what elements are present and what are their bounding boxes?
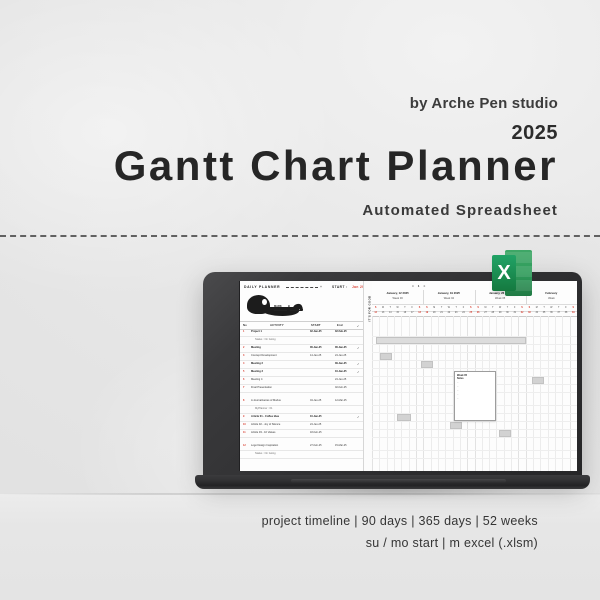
footer-block: project timeline | 90 days | 365 days | … [262, 510, 538, 554]
row-end: 02-Feb-25 [335, 330, 347, 333]
day-number-cell: 36 [548, 310, 555, 316]
row-end: 15-Mar-25 [335, 444, 347, 447]
row-activity: Status : On Going [255, 338, 276, 341]
gantt-bar[interactable] [450, 422, 462, 429]
week-number-label: Week 04 [423, 297, 474, 300]
grid-line-vertical [372, 316, 373, 471]
day-number-cell: 38 [562, 310, 569, 316]
gantt-bar[interactable] [376, 337, 526, 344]
row-start: 02-Jan-25 [310, 330, 322, 333]
week-divider [423, 290, 424, 304]
popup-item: - [458, 386, 459, 388]
grid-line-vertical [562, 316, 563, 471]
table-row[interactable]: Status : On Going [240, 450, 363, 459]
col-activity: ACTIVITY [270, 324, 284, 327]
popup-item: - [458, 398, 459, 400]
row-start: 27-Feb-25 [310, 444, 322, 447]
col-no: No [243, 324, 247, 327]
grid-line-vertical [570, 316, 571, 471]
day-number-cell: 35 [540, 310, 547, 316]
doodle-label-2: B [288, 305, 290, 308]
row-end: 16-Jan-25 [335, 370, 347, 373]
row-number: 12 [243, 444, 246, 447]
day-number-cell: 13 [379, 310, 386, 316]
plus-icon[interactable]: + [320, 285, 322, 289]
week-month-label: January, 12 2025 [372, 291, 423, 295]
day-number-cell: 16 [401, 310, 408, 316]
day-number-cell: 17 [409, 310, 416, 316]
row-number: 1 [243, 330, 244, 333]
row-activity: Status : On Going [255, 452, 276, 455]
day-number-cell: 24 [460, 310, 467, 316]
day-number-cell: 20 [431, 310, 438, 316]
header-block: by Arche Pen studio 2025 [410, 96, 558, 143]
day-number-cell: 31 [511, 310, 518, 316]
day-number-cell: 28 [489, 310, 496, 316]
gantt-nav[interactable]: < 1 > [412, 284, 427, 288]
week-divider [475, 290, 476, 304]
day-number-cell: 32 [518, 310, 525, 316]
row-activity: Meeting 3 [251, 370, 263, 373]
grid-line-vertical [555, 316, 556, 471]
row-activity: Meeting [251, 346, 261, 349]
col-start: START [311, 324, 321, 327]
sheet-title-dashes [286, 287, 318, 288]
gantt-chart: < 1 > January, 12 2025Week 03January, 19… [372, 281, 577, 471]
day-number-cell: 26 [475, 310, 482, 316]
poster-canvas: by Arche Pen studio 2025 Gantt Chart Pla… [0, 0, 600, 600]
row-start: 18-Feb-25 [310, 431, 322, 434]
row-activity: Article 01 - Coffee Idea [251, 415, 279, 418]
row-end: 24-Jan-25 [335, 354, 346, 357]
row-number: 6 [243, 378, 244, 381]
row-end: 06-Jan-25 [335, 346, 347, 349]
grid-line-vertical [526, 316, 527, 471]
gantt-bar[interactable] [380, 353, 392, 360]
row-end: 02-Feb-25 [335, 386, 347, 389]
row-activity: Article 02 - Joy of Silence [251, 423, 280, 426]
day-number-cell: 19 [423, 310, 430, 316]
row-activity: Concept Development [251, 354, 277, 357]
row-number: 9 [243, 415, 244, 418]
row-start: 24-Jan-25 [310, 423, 321, 426]
day-number-cell: 15 [394, 310, 401, 316]
footer-line-2: su / mo start | m excel (.xlsm) [262, 532, 538, 554]
day-number-cell: 18 [416, 310, 423, 316]
col-check: ✓ [357, 324, 359, 328]
laptop-mockup: DAILY PLANNER + START : Jan 2025 [195, 272, 590, 487]
row-number: 11 [243, 431, 246, 434]
row-start: 14-Jan-25 [310, 354, 321, 357]
row-number: 7 [243, 386, 244, 389]
laptop-screen: DAILY PLANNER + START : Jan 2025 [239, 281, 577, 471]
day-number-cell: 30 [504, 310, 511, 316]
grid-line-horizontal [372, 437, 577, 438]
gantt-bar[interactable] [532, 377, 544, 384]
row-activity: Article 03 - 10 Values [251, 431, 275, 434]
day-number-cell: 37 [555, 310, 562, 316]
row-check[interactable]: ✓ [357, 362, 360, 366]
excel-icon[interactable]: X [492, 250, 532, 296]
row-activity: Meeting 4 [251, 378, 262, 381]
day-number-cell: 23 [453, 310, 460, 316]
start-label: START : [332, 285, 348, 289]
row-number: 10 [243, 423, 246, 426]
grid-line-horizontal [372, 450, 577, 451]
row-number: 3 [243, 354, 244, 357]
row-number: 5 [243, 370, 244, 373]
grid-line-horizontal [372, 429, 577, 430]
day-number-cell: 21 [438, 310, 445, 316]
col-end: End [337, 324, 343, 327]
grid-line-horizontal [372, 368, 577, 369]
whale-doodle-icon: MARK B [247, 295, 299, 317]
table-row[interactable]: 11Article 03 - 10 Values18-Feb-25 [240, 429, 363, 438]
footer-line-1: project timeline | 90 days | 365 days | … [262, 510, 538, 532]
popup-item: - [458, 382, 459, 384]
year-label: 2025 [410, 123, 558, 143]
row-start: 10-Jan-25 [310, 415, 322, 418]
popup-subheader: Notes [457, 377, 464, 380]
week-month-label: January, 19 2025 [423, 291, 474, 295]
day-number-cell: 12 [372, 310, 379, 316]
day-number-cell: 25 [467, 310, 474, 316]
day-number-cell: 22 [445, 310, 452, 316]
row-activity: MyPlanner : 01 [255, 407, 272, 410]
row-activity: Project 1 [251, 330, 262, 333]
row-check[interactable]: ✓ [357, 370, 360, 374]
row-activity: Final Presentation [251, 386, 272, 389]
row-activity: A Journal/series of Modus [251, 399, 281, 402]
row-activity: Meeting 2 [251, 362, 263, 365]
row-start: 06-Jan-25 [310, 346, 322, 349]
row-check[interactable]: ✓ [357, 415, 360, 419]
grid-line-horizontal [372, 360, 577, 361]
note-popup[interactable]: Week 05Notes----- [454, 371, 496, 421]
sheet-title: DAILY PLANNER [244, 285, 280, 289]
doodle-label-1: MARK [274, 305, 282, 308]
spreadsheet: DAILY PLANNER + START : Jan 2025 [240, 281, 577, 471]
week-number-label: Week 03 [372, 297, 423, 300]
page-subtitle: Automated Spreadsheet [362, 203, 558, 218]
row-number: 8 [243, 399, 244, 402]
popup-item: - [458, 394, 459, 396]
row-number: 4 [243, 362, 244, 365]
week-month-label: February [526, 291, 577, 295]
row-end: 09-Jan-25 [335, 362, 347, 365]
row-number: 2 [243, 346, 244, 349]
laptop-base-lip [291, 479, 506, 483]
row-end: 24-Jan-25 [335, 378, 346, 381]
row-end: 12-Mar-25 [335, 399, 347, 402]
laptop-lid: DAILY PLANNER + START : Jan 2025 [203, 272, 582, 480]
dashed-divider [0, 235, 600, 237]
grid-line-vertical [533, 316, 534, 471]
day-number-cell: 14 [387, 310, 394, 316]
week-number-label: Week 05 [475, 297, 526, 300]
gantt-bar[interactable] [499, 430, 511, 437]
grid-line-horizontal [372, 352, 577, 353]
day-number-cell: 39 [570, 310, 577, 316]
studio-byline: by Arche Pen studio [410, 96, 558, 111]
grid-line-horizontal [372, 458, 577, 459]
day-number-cell: 27 [482, 310, 489, 316]
table-row[interactable]: 7Final Presentation02-Feb-25 [240, 384, 363, 393]
day-number-cell: 34 [533, 310, 540, 316]
row-activity: Logo Design Inspiration [251, 444, 278, 447]
popup-item: - [458, 390, 459, 392]
excel-letter: X [492, 255, 516, 291]
row-check[interactable]: ✓ [357, 346, 360, 350]
day-number-cell: 33 [526, 310, 533, 316]
grid-line-vertical [548, 316, 549, 471]
week-number-label: Week [526, 297, 577, 300]
gantt-bar[interactable] [421, 361, 433, 368]
grid-line-vertical [540, 316, 541, 471]
row-start: 04-Jan-25 [310, 399, 321, 402]
gantt-bar[interactable] [397, 414, 411, 421]
day-number-cell: 29 [496, 310, 503, 316]
page-title: Gantt Chart Planner [0, 145, 558, 187]
